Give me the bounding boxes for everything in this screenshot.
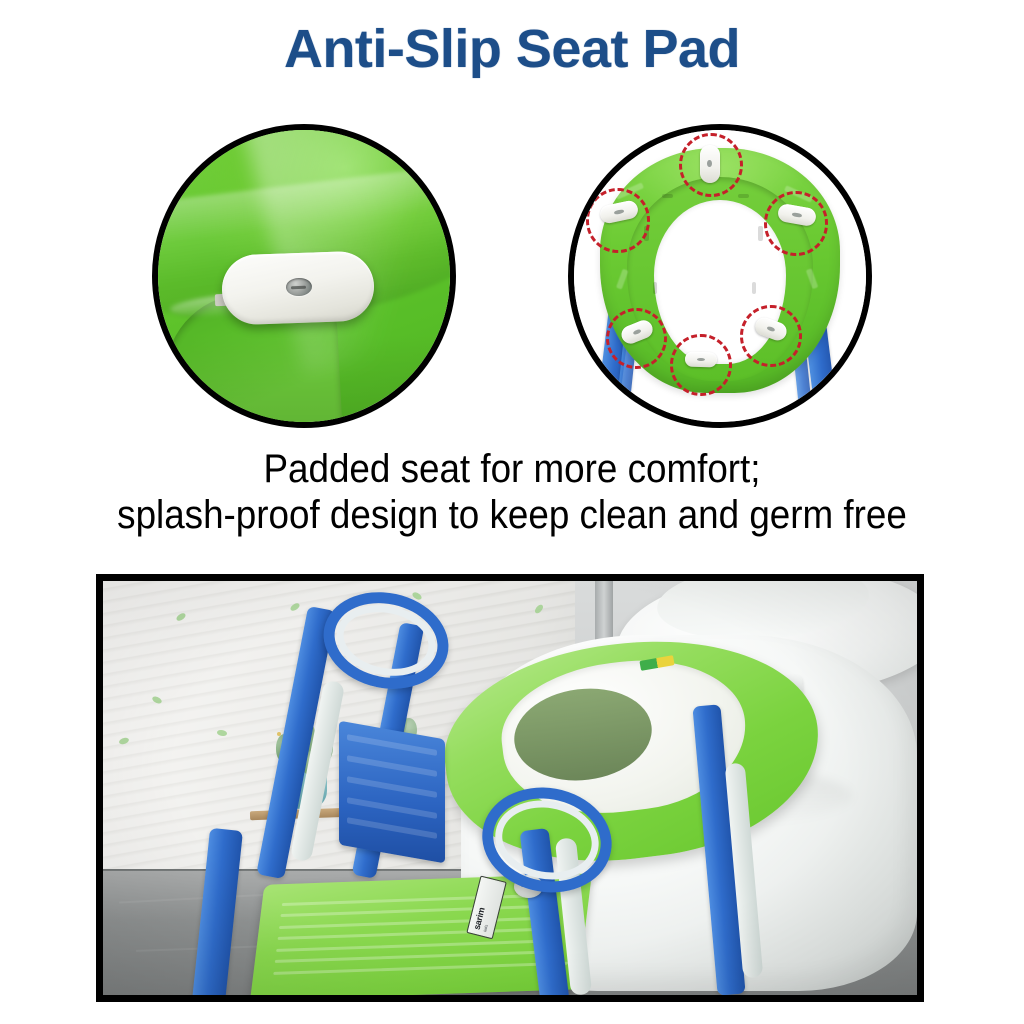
cactus-flower: [277, 732, 281, 736]
lifestyle-photo: sarim kids: [103, 581, 917, 995]
lifestyle-photo-frame: sarim kids: [96, 574, 924, 1002]
pad-screw-dot: [614, 209, 624, 214]
caption-line-1: Padded seat for more comfort;: [41, 446, 983, 492]
anti-slip-pads-layer: [574, 130, 866, 422]
anti-slip-pad: [221, 250, 375, 325]
caption-text: Padded seat for more comfort; splash-pro…: [41, 446, 983, 538]
step-ridge: [274, 951, 562, 964]
inset-close-up-anti-slip-pad: [152, 124, 456, 428]
page-title: Anti-Slip Seat Pad: [0, 18, 1024, 80]
anti-slip-pad-top-center: [700, 145, 720, 183]
pad-screw-dot: [793, 212, 803, 217]
caption-line-2: splash-proof design to keep clean and ge…: [41, 492, 983, 538]
step-ridge: [278, 916, 547, 928]
bottom-shadow: [158, 334, 450, 427]
step-ridge: [280, 905, 542, 917]
pad-screw-dot: [633, 328, 641, 334]
pad-screw-dot: [767, 326, 775, 332]
screw-icon: [286, 277, 312, 296]
step-ridge: [272, 962, 567, 975]
underside-image: [574, 130, 866, 422]
inset-seat-underside-pad-locations: [568, 124, 872, 428]
anti-slip-pad-bottom-center: [685, 351, 718, 367]
close-up-image: [158, 130, 450, 422]
screw-slot: [291, 285, 307, 288]
brand-sub: kids: [482, 924, 489, 932]
step-ridge: [275, 939, 557, 952]
step-ridge: [277, 928, 552, 941]
pad-screw-dot: [697, 358, 705, 361]
pad-screw-dot: [707, 160, 712, 168]
